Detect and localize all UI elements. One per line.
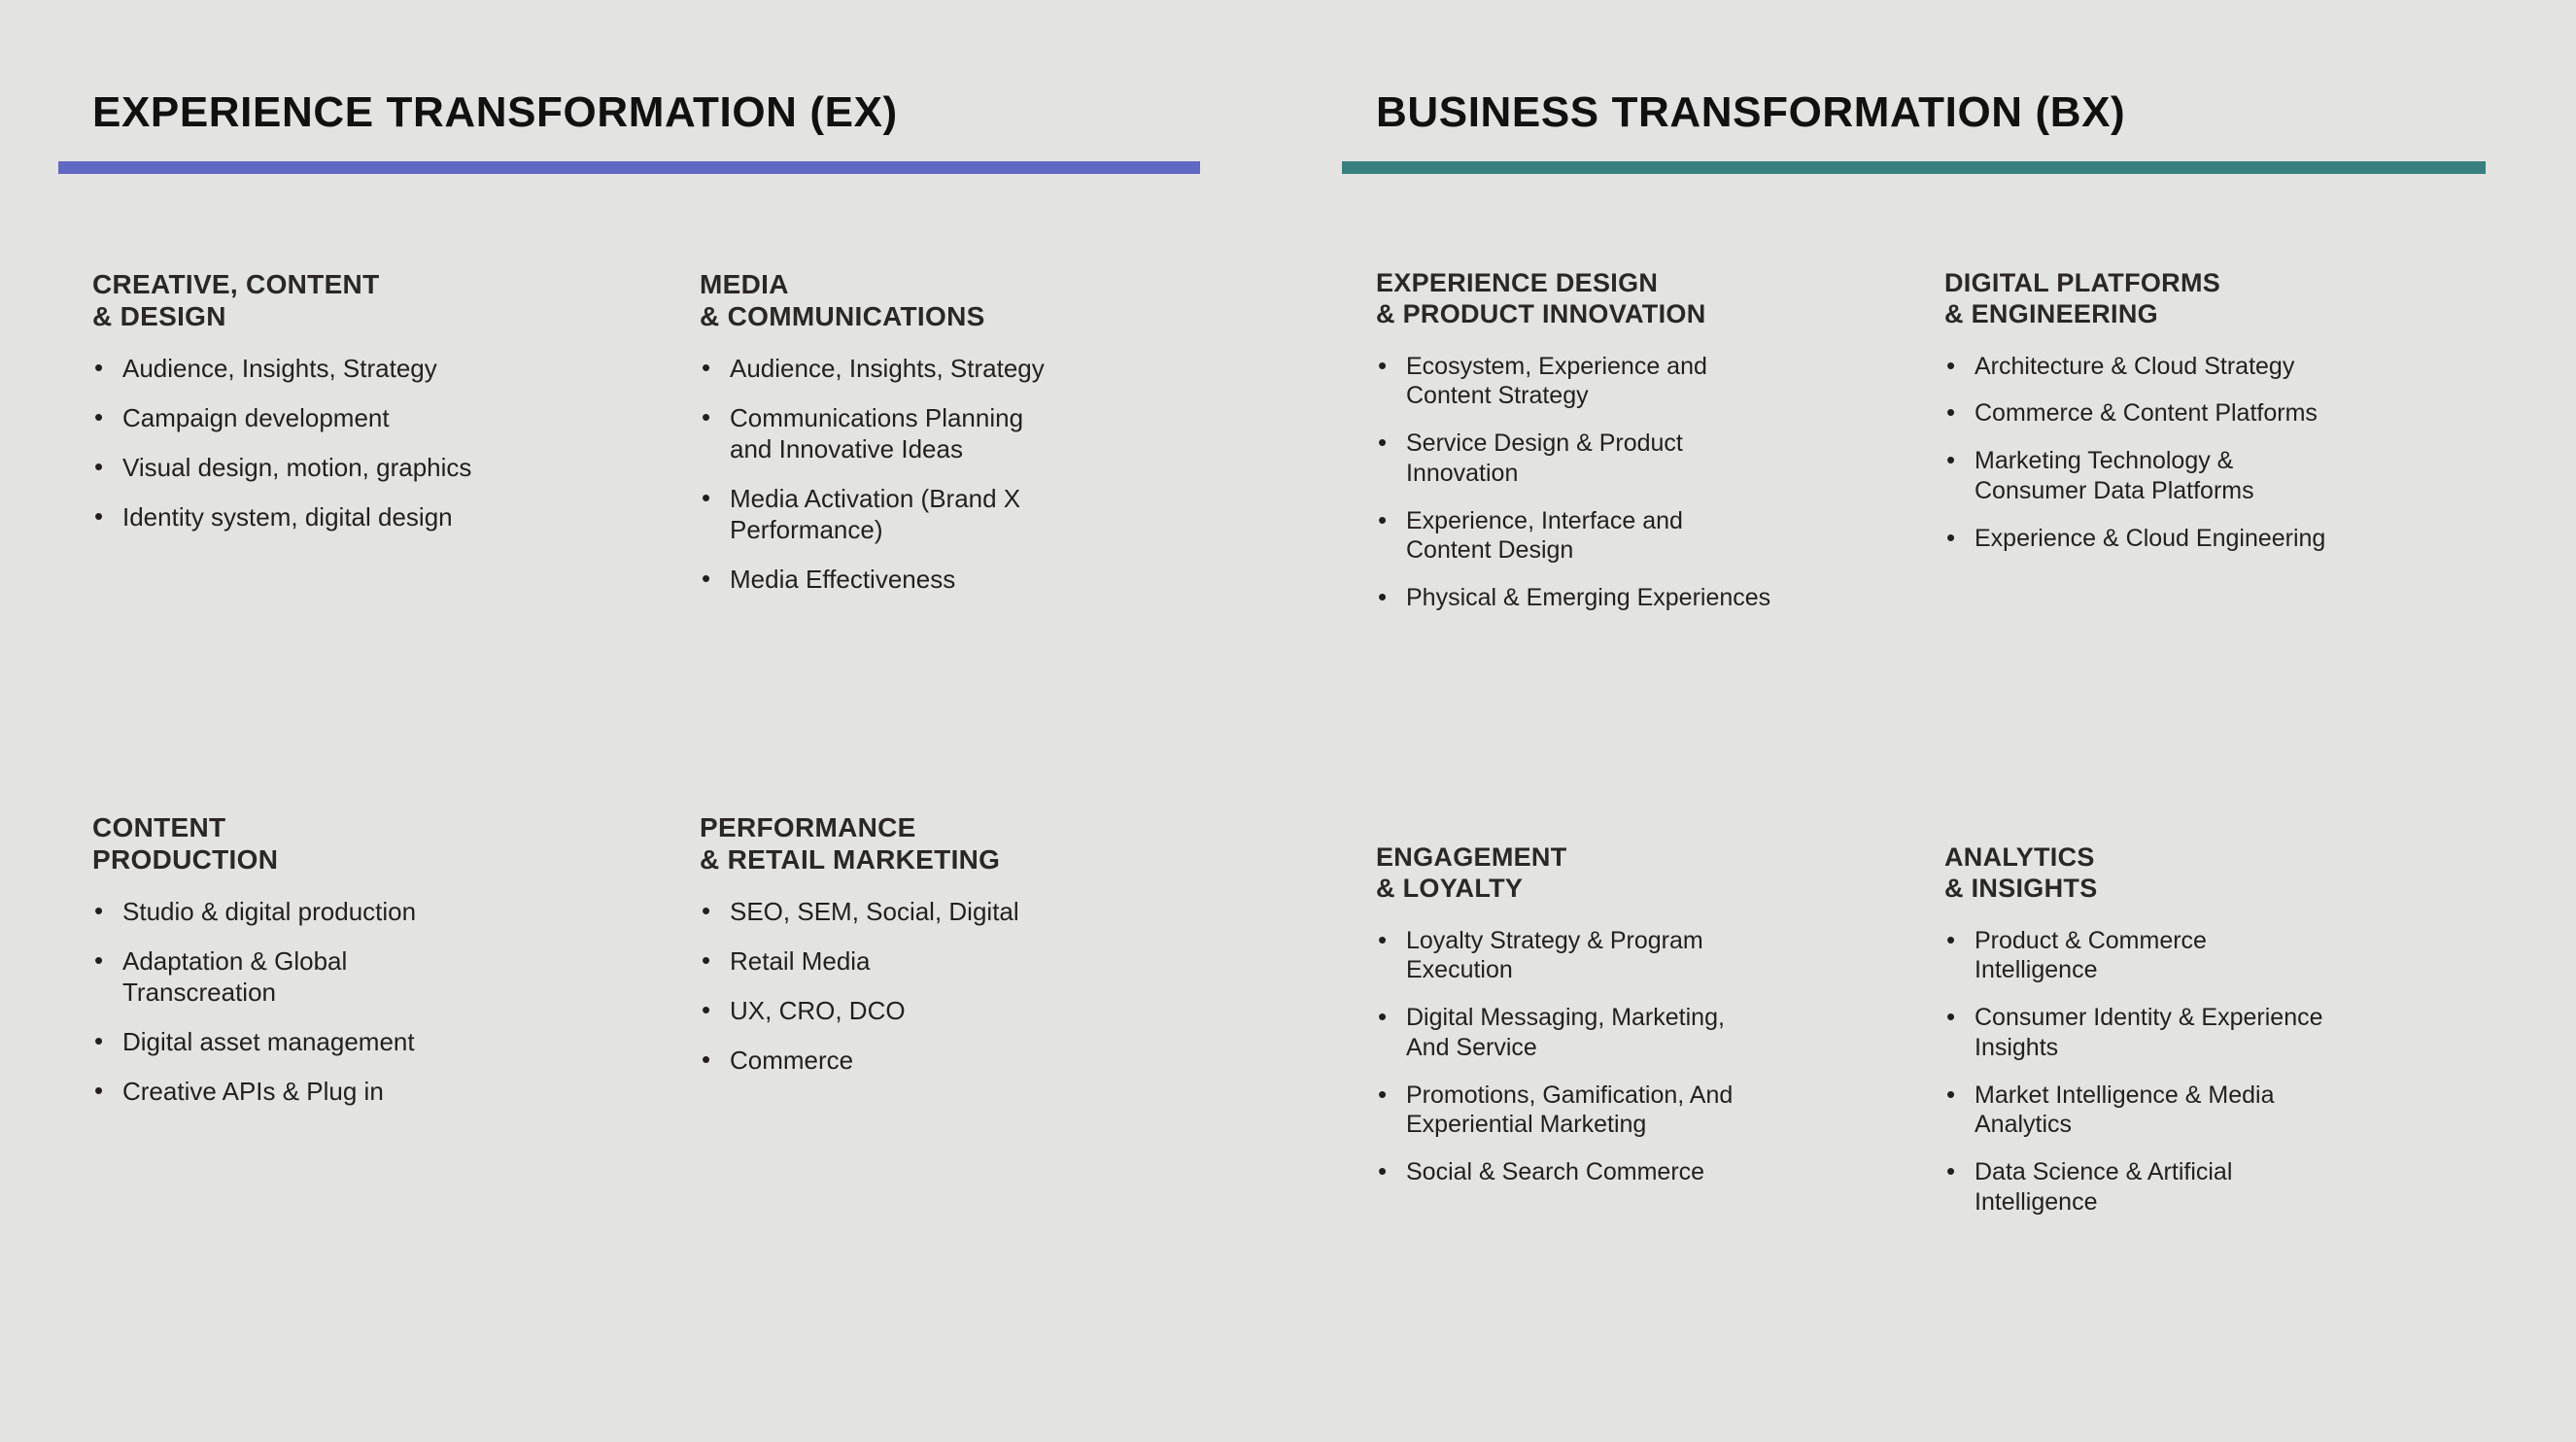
list-item: •Loyalty Strategy & Program Execution	[1376, 926, 1866, 986]
list-item-label: Audience, Insights, Strategy	[730, 354, 1045, 383]
list-item: •Physical & Emerging Experiences	[1376, 583, 1866, 613]
bullet-icon: •	[1946, 1080, 1955, 1111]
list-item-label: Market Intelligence & Media Analytics	[1975, 1081, 2274, 1139]
list-item-label: Commerce & Content Platforms	[1975, 399, 2318, 427]
list-item-label: Loyalty Strategy & Program Execution	[1406, 927, 1703, 984]
list-item-label: Digital Messaging, Marketing, And Servic…	[1406, 1004, 1725, 1061]
list-item-label: UX, CRO, DCO	[730, 996, 906, 1025]
bullet-icon: •	[94, 1026, 103, 1057]
list-item-label: Service Design & Product Innovation	[1406, 429, 1683, 487]
bullet-icon: •	[702, 995, 710, 1026]
list-item: •Media Effectiveness	[700, 565, 1155, 596]
list-item: •UX, CRO, DCO	[700, 996, 1155, 1027]
capability-item-list: •Loyalty Strategy & Program Execution •D…	[1376, 926, 1866, 1187]
list-item: •Experience & Cloud Engineering	[1944, 524, 2441, 554]
bullet-icon: •	[1378, 351, 1387, 382]
list-item-label: Experience, Interface and Content Design	[1406, 507, 1683, 565]
list-item-label: Identity system, digital design	[122, 502, 453, 532]
list-item-label: Retail Media	[730, 946, 871, 976]
capability-card-content-production: CONTENT PRODUCTION •Studio & digital pro…	[58, 596, 666, 1108]
list-item-label: Adaptation & Global Transcreation	[122, 946, 347, 1007]
capability-item-list: •Architecture & Cloud Strategy •Commerce…	[1944, 352, 2441, 554]
bullet-icon: •	[94, 1076, 103, 1107]
bullet-icon: •	[1378, 925, 1387, 956]
list-item-label: Consumer Identity & Experience Insights	[1975, 1004, 2323, 1061]
bullet-icon: •	[1378, 1080, 1387, 1111]
list-item-label: Experience & Cloud Engineering	[1975, 525, 2325, 552]
page-title-bx: BUSINESS TRANSFORMATION (BX)	[1376, 91, 2486, 134]
bullet-icon: •	[1378, 505, 1387, 536]
list-item-label: Ecosystem, Experience and Content Strate…	[1406, 353, 1707, 410]
bullet-icon: •	[1378, 1156, 1387, 1187]
bullet-icon: •	[1378, 428, 1387, 459]
list-item: •Commerce	[700, 1046, 1155, 1077]
capability-item-list: •Audience, Insights, Strategy •Communica…	[700, 354, 1155, 596]
capability-card-experience-design-product-innovation: EXPERIENCE DESIGN & PRODUCT INNOVATION •…	[1342, 268, 1910, 631]
list-item-label: Media Effectiveness	[730, 565, 955, 594]
capability-grid-bx: EXPERIENCE DESIGN & PRODUCT INNOVATION •…	[1342, 268, 2486, 1235]
bullet-icon: •	[1946, 925, 1955, 956]
list-item: •Communications Planning and Innovative …	[700, 403, 1155, 465]
page-title-ex: EXPERIENCE TRANSFORMATION (EX)	[92, 91, 1200, 134]
bullet-icon: •	[702, 1045, 710, 1076]
bullet-icon: •	[702, 564, 710, 595]
capability-item-list: •Ecosystem, Experience and Content Strat…	[1376, 352, 1866, 613]
capability-title: MEDIA & COMMUNICATIONS	[700, 268, 1155, 332]
list-item: •Audience, Insights, Strategy	[92, 354, 621, 385]
capability-item-list: •SEO, SEM, Social, Digital •Retail Media…	[700, 897, 1155, 1077]
capability-card-analytics-insights: ANALYTICS & INSIGHTS •Product & Commerce…	[1910, 631, 2486, 1235]
bullet-icon: •	[94, 945, 103, 977]
list-item-label: SEO, SEM, Social, Digital	[730, 897, 1019, 926]
capability-title: ENGAGEMENT & LOYALTY	[1376, 842, 1866, 905]
list-item-label: Data Science & Artificial Intelligence	[1975, 1158, 2232, 1216]
bullet-icon: •	[94, 452, 103, 483]
bullet-icon: •	[1946, 1002, 1955, 1033]
list-item-label: Architecture & Cloud Strategy	[1975, 353, 2294, 380]
bullet-icon: •	[1378, 1002, 1387, 1033]
bullet-icon: •	[1946, 351, 1955, 382]
list-item: •Data Science & Artificial Intelligence	[1944, 1157, 2441, 1218]
bullet-icon: •	[702, 945, 710, 977]
list-item: •Promotions, Gamification, And Experient…	[1376, 1081, 1866, 1141]
list-item: •Ecosystem, Experience and Content Strat…	[1376, 352, 1866, 412]
capability-item-list: •Audience, Insights, Strategy •Campaign …	[92, 354, 621, 533]
list-item: •Digital asset management	[92, 1027, 621, 1058]
pillar-business-transformation: BUSINESS TRANSFORMATION (BX) EXPERIENCE …	[1342, 0, 2486, 1442]
accent-rule-ex	[58, 161, 1200, 174]
bullet-icon: •	[1946, 523, 1955, 554]
list-item-label: Digital asset management	[122, 1027, 415, 1056]
list-item: •Creative APIs & Plug in	[92, 1077, 621, 1108]
list-item-label: Physical & Emerging Experiences	[1406, 584, 1770, 611]
list-item: •Consumer Identity & Experience Insights	[1944, 1003, 2441, 1063]
list-item: •Commerce & Content Platforms	[1944, 398, 2441, 429]
list-item-label: Audience, Insights, Strategy	[122, 354, 437, 383]
list-item: •Product & Commerce Intelligence	[1944, 926, 2441, 986]
accent-rule-bx	[1342, 161, 2486, 174]
capability-grid-ex: CREATIVE, CONTENT & DESIGN •Audience, In…	[58, 268, 1200, 1108]
list-item: •Retail Media	[700, 946, 1155, 978]
bullet-icon: •	[1946, 397, 1955, 429]
bullet-icon: •	[702, 402, 710, 433]
bullet-icon: •	[94, 501, 103, 532]
list-item: •Campaign development	[92, 403, 621, 434]
list-item: •Identity system, digital design	[92, 502, 621, 533]
capability-card-media-communications: MEDIA & COMMUNICATIONS •Audience, Insigh…	[666, 268, 1200, 596]
list-item: •Studio & digital production	[92, 897, 621, 928]
list-item-label: Campaign development	[122, 403, 390, 432]
list-item-label: Social & Search Commerce	[1406, 1158, 1704, 1185]
capability-item-list: •Studio & digital production •Adaptation…	[92, 897, 621, 1108]
bullet-icon: •	[94, 402, 103, 433]
list-item: •Audience, Insights, Strategy	[700, 354, 1155, 385]
bullet-icon: •	[702, 896, 710, 927]
bullet-icon: •	[94, 353, 103, 384]
list-item-label: Commerce	[730, 1046, 853, 1075]
pillar-header: BUSINESS TRANSFORMATION (BX)	[1342, 91, 2486, 174]
bullet-icon: •	[1946, 445, 1955, 476]
list-item: •Architecture & Cloud Strategy	[1944, 352, 2441, 382]
bullet-icon: •	[1378, 582, 1387, 613]
bullet-icon: •	[702, 483, 710, 514]
capability-title: CREATIVE, CONTENT & DESIGN	[92, 268, 621, 332]
list-item-label: Product & Commerce Intelligence	[1975, 927, 2207, 984]
pillar-header: EXPERIENCE TRANSFORMATION (EX)	[58, 91, 1200, 174]
capability-card-creative-content-design: CREATIVE, CONTENT & DESIGN •Audience, In…	[58, 268, 666, 596]
capabilities-board: EXPERIENCE TRANSFORMATION (EX) CREATIVE,…	[0, 0, 2576, 1442]
list-item: •Experience, Interface and Content Desig…	[1376, 506, 1866, 566]
capability-title: ANALYTICS & INSIGHTS	[1944, 842, 2441, 905]
capability-card-digital-platforms-engineering: DIGITAL PLATFORMS & ENGINEERING •Archite…	[1910, 268, 2486, 631]
list-item: •Adaptation & Global Transcreation	[92, 946, 621, 1009]
list-item: •Social & Search Commerce	[1376, 1157, 1866, 1187]
capability-card-engagement-loyalty: ENGAGEMENT & LOYALTY •Loyalty Strategy &…	[1342, 631, 1910, 1235]
list-item-label: Creative APIs & Plug in	[122, 1077, 384, 1106]
list-item-label: Promotions, Gamification, And Experienti…	[1406, 1081, 1733, 1139]
bullet-icon: •	[1946, 1156, 1955, 1187]
list-item: •Service Design & Product Innovation	[1376, 429, 1866, 489]
list-item: •Market Intelligence & Media Analytics	[1944, 1081, 2441, 1141]
capability-card-performance-retail-marketing: PERFORMANCE & RETAIL MARKETING •SEO, SEM…	[666, 596, 1200, 1108]
list-item-label: Studio & digital production	[122, 897, 416, 926]
list-item: •SEO, SEM, Social, Digital	[700, 897, 1155, 928]
bullet-icon: •	[702, 353, 710, 384]
capability-title: CONTENT PRODUCTION	[92, 811, 621, 875]
pillar-experience-transformation: EXPERIENCE TRANSFORMATION (EX) CREATIVE,…	[58, 0, 1200, 1442]
capability-title: DIGITAL PLATFORMS & ENGINEERING	[1944, 268, 2441, 330]
list-item: •Digital Messaging, Marketing, And Servi…	[1376, 1003, 1866, 1063]
list-item-label: Marketing Technology & Consumer Data Pla…	[1975, 447, 2254, 504]
list-item: •Media Activation (Brand X Performance)	[700, 484, 1155, 546]
list-item: •Marketing Technology & Consumer Data Pl…	[1944, 446, 2441, 506]
bullet-icon: •	[94, 896, 103, 927]
list-item-label: Visual design, motion, graphics	[122, 453, 471, 482]
capability-title: EXPERIENCE DESIGN & PRODUCT INNOVATION	[1376, 268, 1866, 330]
list-item-label: Communications Planning and Innovative I…	[730, 403, 1023, 463]
list-item: •Visual design, motion, graphics	[92, 453, 621, 484]
capability-title: PERFORMANCE & RETAIL MARKETING	[700, 811, 1155, 875]
capability-item-list: •Product & Commerce Intelligence •Consum…	[1944, 926, 2441, 1218]
list-item-label: Media Activation (Brand X Performance)	[730, 484, 1020, 544]
